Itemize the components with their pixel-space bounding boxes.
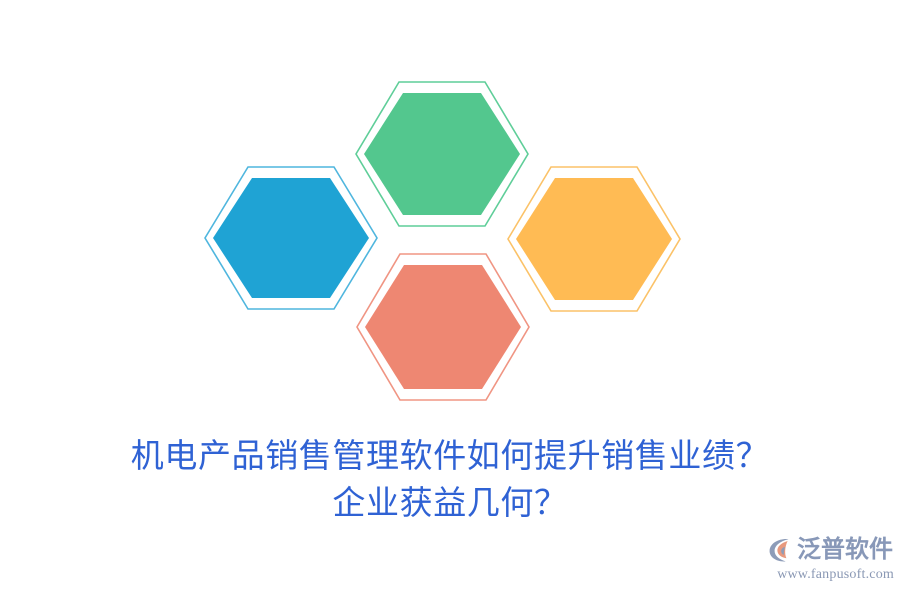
blue-hexagon-fill — [213, 178, 369, 298]
brand-logo-row: 泛普软件 — [766, 534, 894, 566]
blue-hexagon — [205, 167, 377, 309]
orange-hexagon-fill — [516, 178, 672, 300]
brand-url: www.fanpusoft.com — [766, 567, 894, 583]
fanpu-swirl-icon — [766, 535, 796, 565]
green-hexagon — [356, 82, 528, 226]
brand-wordmark: 泛普软件 — [797, 536, 893, 564]
salmon-hexagon-fill — [365, 265, 521, 389]
page-title-line-2: 企业获益几何？ — [0, 479, 900, 526]
page-title-line-1: 机电产品销售管理软件如何提升销售业绩？ — [0, 432, 900, 479]
hexagon-cluster-graphic — [0, 0, 900, 430]
page-title: 机电产品销售管理软件如何提升销售业绩？ 企业获益几何？ — [0, 432, 900, 526]
brand-logo[interactable]: 泛普软件 www.fanpusoft.com — [766, 534, 894, 588]
salmon-hexagon — [357, 254, 529, 400]
banner-canvas: 机电产品销售管理软件如何提升销售业绩？ 企业获益几何？ 泛普软件 www.fan… — [0, 0, 900, 600]
orange-hexagon — [508, 167, 680, 311]
green-hexagon-fill — [364, 93, 520, 215]
